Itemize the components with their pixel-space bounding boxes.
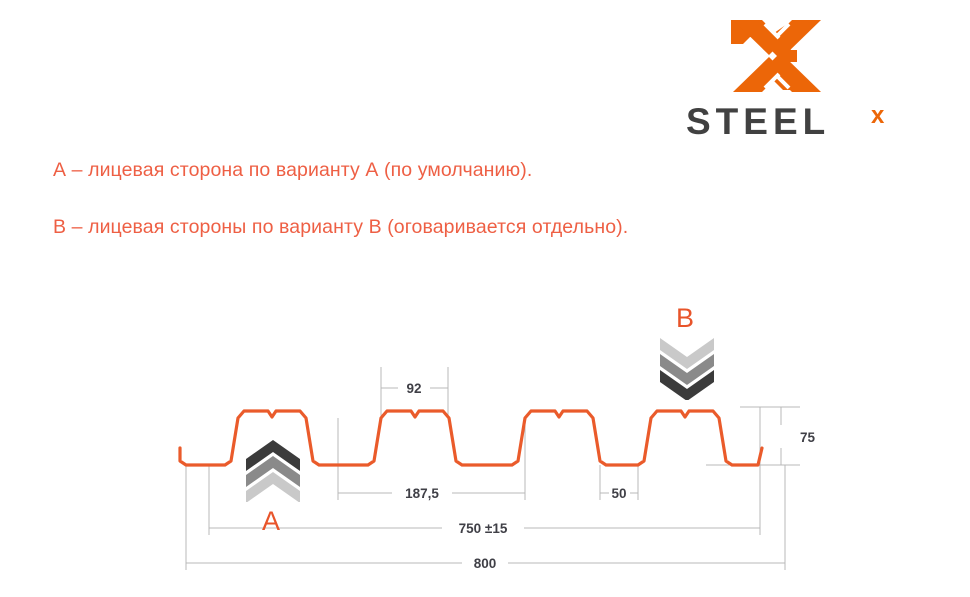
note-variant-a: А – лицевая сторона по варианту А (по ум… — [53, 159, 532, 182]
steelx-logo-mark-icon — [731, 18, 823, 94]
dim-label-187-5: 187,5 — [405, 486, 439, 501]
dim-label-800: 800 — [474, 556, 497, 571]
dim-label-750: 750 ±15 — [459, 521, 508, 536]
marker-b-chevron-stack — [660, 338, 714, 400]
marker-a-chevron-stack — [246, 440, 300, 502]
marker-b-letter: В — [676, 305, 694, 332]
corrugated-profile-drawing: 92 187,5 50 75 750 ±15 800 — [0, 285, 970, 585]
wordmark-steel-text: STEEL — [686, 103, 830, 141]
dimension-labels-group: 92 187,5 50 75 750 ±15 800 — [405, 381, 815, 571]
dim-label-75: 75 — [800, 430, 816, 445]
dim-label-50: 50 — [611, 486, 626, 501]
steelx-wordmark: STEEL x — [686, 103, 911, 141]
dim-label-92: 92 — [406, 381, 421, 396]
wordmark-x-superscript: x — [871, 103, 885, 129]
note-variant-b: В – лицевая стороны по варианту В (огова… — [53, 216, 628, 239]
steelx-logo: STEEL x — [686, 18, 911, 140]
marker-a-letter: А — [262, 508, 280, 535]
profile-drawing-page: STEEL x А – лицевая сторона по варианту … — [0, 0, 970, 597]
